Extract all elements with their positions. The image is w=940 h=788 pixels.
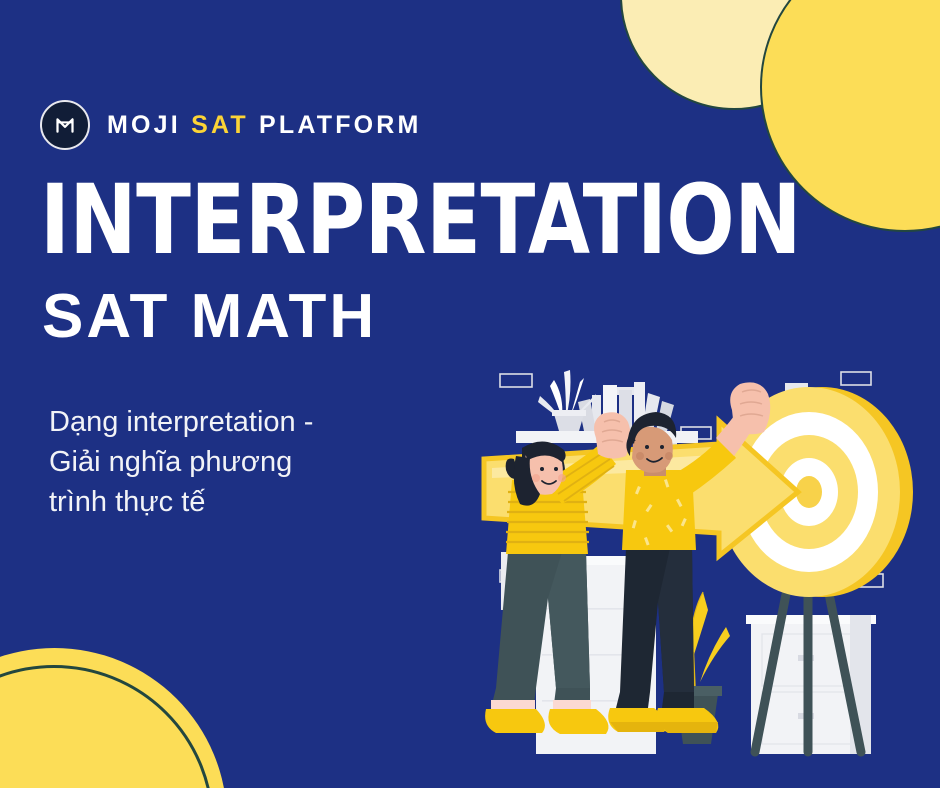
hero-illustration <box>478 352 930 762</box>
yellow-circle-bottom-left <box>0 648 227 788</box>
wordmark-part-1: MOJI <box>107 111 191 139</box>
cream-circle-top-right <box>620 0 848 110</box>
yellow-circle-bottom-left-stroke <box>0 665 214 788</box>
wordmark-part-2: PLATFORM <box>249 111 422 139</box>
moji-monogram-icon <box>40 100 90 150</box>
brand-logo-row: MOJI SAT PLATFORM <box>40 100 422 150</box>
wordmark-accent-sat: SAT <box>191 111 249 139</box>
page-subtitle: SAT MATH <box>42 286 377 348</box>
brand-wordmark: MOJI SAT PLATFORM <box>107 113 422 138</box>
page-description: Dạng interpretation - Giải nghĩa phương … <box>49 402 389 522</box>
page-title: INTERPRETATION <box>40 176 801 264</box>
